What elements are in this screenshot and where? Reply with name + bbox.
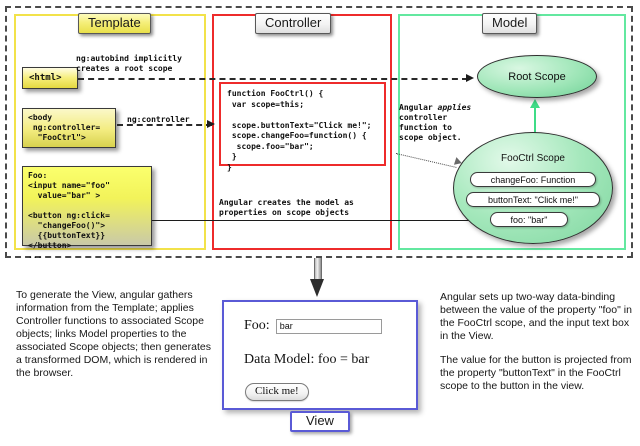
template-html-tag-box: <html> bbox=[22, 67, 78, 89]
controller-source-box: function FooCtrl() { var scope=this; sco… bbox=[219, 82, 386, 166]
panel-title-controller: Controller bbox=[255, 13, 331, 34]
connector-scope-inheritance-line bbox=[534, 107, 536, 135]
connector-scope-inheritance-arrowhead bbox=[530, 99, 540, 108]
render-arrow-head bbox=[310, 279, 324, 297]
diagram-canvas: Template Controller Model <html> <body n… bbox=[0, 0, 640, 446]
explanation-data-binding: Angular sets up two-way data-binding bet… bbox=[440, 291, 632, 393]
annotation-applies-emphasis: applies bbox=[438, 103, 472, 112]
scope-property-changefoo: changeFoo: Function bbox=[470, 172, 596, 187]
explanation-view-generation: To generate the View, angular gathers in… bbox=[16, 289, 212, 380]
view-foo-input[interactable] bbox=[276, 319, 382, 334]
render-to-view-arrow bbox=[310, 258, 324, 298]
fooctrl-scope-ellipse: FooCtrl Scope bbox=[453, 132, 613, 244]
view-click-me-button[interactable]: Click me! bbox=[245, 383, 309, 401]
connector-ng-controller-arrowhead bbox=[207, 120, 215, 128]
connector-ng-controller-dashed bbox=[117, 124, 212, 126]
annotation-applies-rest: controller function to scope object. bbox=[399, 113, 462, 142]
scope-property-buttontext: buttonText: "Click me!" bbox=[466, 192, 600, 207]
connector-autobind-arrowhead bbox=[466, 74, 474, 82]
connector-button-to-foo-property bbox=[152, 220, 490, 221]
panel-title-template: Template bbox=[78, 13, 151, 34]
annotation-ng-autobind: ng:autobind implicitly creates a root sc… bbox=[76, 54, 182, 74]
fooctrl-scope-label: FooCtrl Scope bbox=[454, 153, 612, 164]
panel-title-view: View bbox=[290, 411, 350, 432]
panel-title-model: Model bbox=[482, 13, 537, 34]
view-data-model-text: Data Model: foo = bar bbox=[244, 352, 369, 368]
render-arrow-shaft bbox=[314, 258, 322, 280]
view-preview-box: Foo: Data Model: foo = bar Click me! bbox=[222, 300, 418, 410]
view-foo-row: Foo: bbox=[244, 318, 382, 334]
template-foo-markup-box: Foo: <input name="foo" value="bar" > <bu… bbox=[22, 166, 152, 246]
explanation-view-generation-text: To generate the View, angular gathers in… bbox=[16, 289, 212, 380]
template-body-tag-box: <body ng:controller= "FooCtrl"> bbox=[22, 108, 116, 148]
annotation-creates-model: Angular creates the model as properties … bbox=[219, 198, 354, 218]
annotation-applies-prefix: Angular bbox=[399, 103, 438, 112]
explanation-button-projection-text: The value for the button is projected fr… bbox=[440, 354, 632, 393]
explanation-two-way-binding-text: Angular sets up two-way data-binding bet… bbox=[440, 291, 632, 343]
scope-property-foo: foo: "bar" bbox=[490, 212, 568, 227]
root-scope-ellipse: Root Scope bbox=[477, 55, 597, 98]
connector-autobind-dashed bbox=[78, 78, 468, 80]
annotation-applies-controller: Angular applies controller function to s… bbox=[399, 103, 471, 143]
view-foo-label: Foo: bbox=[244, 318, 270, 334]
